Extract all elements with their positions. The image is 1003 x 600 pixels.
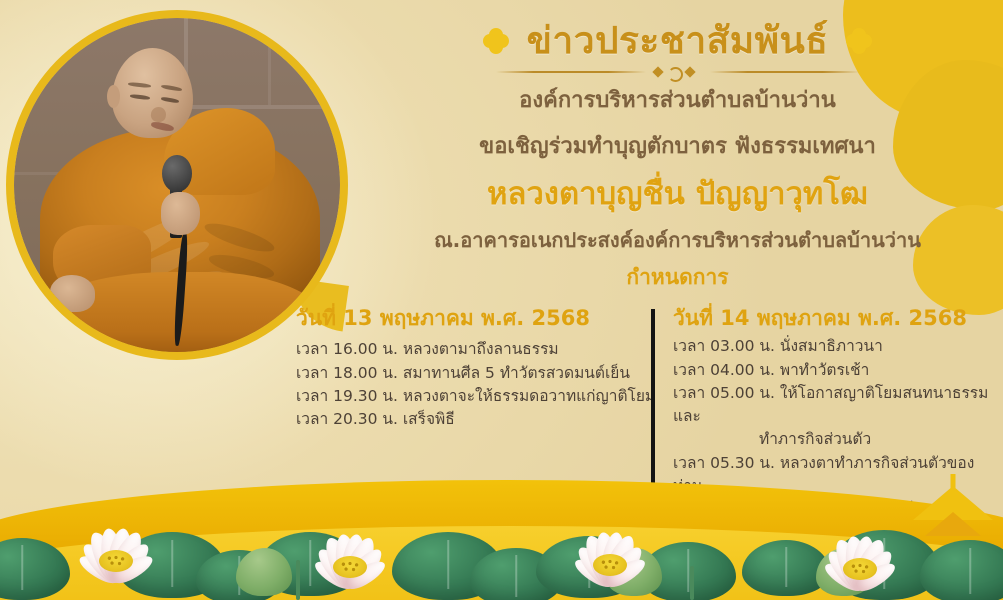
quatrefoil-ornament-icon [483, 28, 509, 54]
venue-text: ณ.อาคารอเนกประสงค์องค์การบริหารส่วนตำบลบ… [352, 225, 1003, 255]
invitation-text: ขอเชิญร่วมทำบุญตักบาตร ฟังธรรมเทศนา [352, 130, 1003, 163]
schedule-entry: เวลา 16.00 น. หลวงตามาถึงลานธรรม [296, 338, 635, 361]
day2-date-heading: วันที่ 14 พฤษภาคม พ.ศ. 2568 [673, 305, 996, 332]
day1-date-heading: วันที่ 13 พฤษภาคม พ.ศ. 2568 [296, 305, 635, 332]
lotus-bud [236, 548, 292, 596]
title-flourish-divider [478, 65, 878, 79]
schedule-entry: เวลา 20.30 น. เสร็จพิธี [296, 408, 635, 431]
lotus-flower-icon [290, 518, 410, 596]
announcement-poster: ข่าวประชาสัมพันธ์ องค์การบริหารส่วนตำบลบ… [0, 0, 1003, 600]
schedule-entry: เวลา 04.00 น. พาทำวัตรเช้า [673, 359, 996, 382]
column-divider [651, 309, 655, 505]
monk-name: หลวงตาบุญชื่น ปัญญาวุทโฒ [352, 173, 1003, 216]
organization-name: องค์การบริหารส่วนตำบลบ้านว่าน [352, 84, 1003, 117]
schedule-entry: เวลา 05.00 น. ให้โอกาสญาติโยมสนทนาธรรมแล… [673, 382, 996, 429]
poster-header: ข่าวประชาสัมพันธ์ องค์การบริหารส่วนตำบลบ… [352, 18, 1003, 294]
lotus-flower-icon [56, 512, 176, 590]
lotus-flower-icon [800, 520, 920, 598]
agenda-label: กำหนดการ [352, 261, 1003, 294]
schedule-entry: เวลา 03.00 น. นั่งสมาธิภาวนา [673, 335, 996, 358]
schedule-entry: เวลา 19.30 น. หลวงตาจะให้ธรรมดอวาทแก่ญาต… [296, 385, 635, 408]
quatrefoil-ornament-icon [846, 28, 872, 54]
lotus-stem [690, 566, 694, 600]
page-title: ข่าวประชาสัมพันธ์ [527, 18, 829, 64]
title-row: ข่าวประชาสัมพันธ์ [352, 18, 1003, 64]
schedule-entry-continuation: ทำภารกิจส่วนตัว [673, 428, 996, 451]
schedule-entry: เวลา 18.00 น. สมาทานศีล 5 ทำวัตรสวดมนต์เ… [296, 362, 635, 385]
lotus-flower-icon [550, 516, 670, 594]
